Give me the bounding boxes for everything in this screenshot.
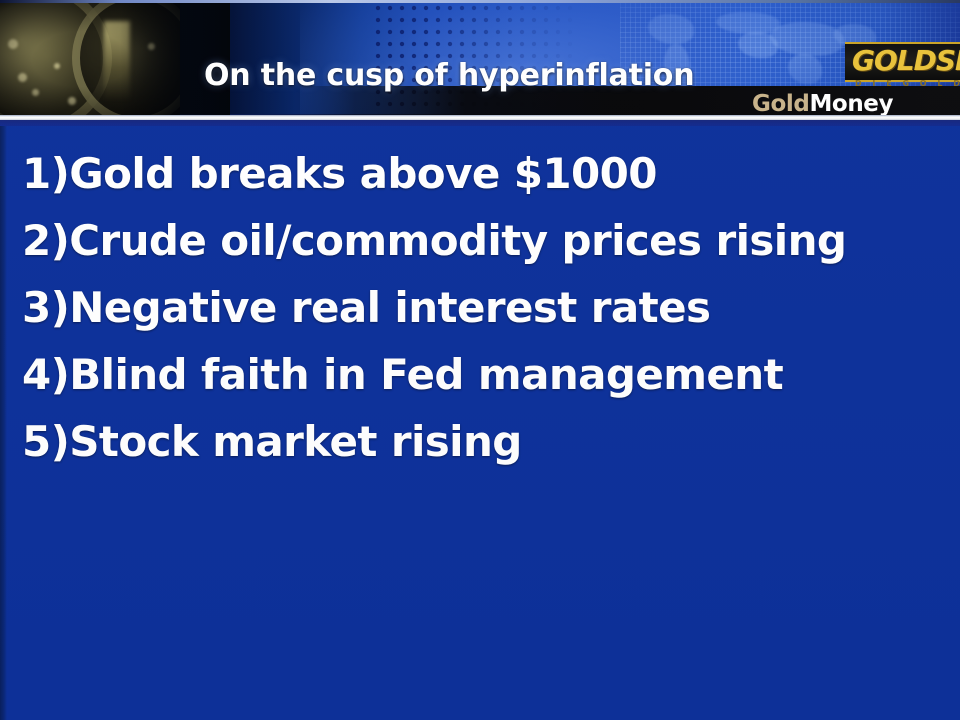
- list-item-label: Blind faith in Fed management: [69, 350, 783, 399]
- header-top-rule: [0, 0, 960, 3]
- goldmoney-brand-money: Money: [809, 91, 893, 117]
- list-item-number: 3): [22, 283, 69, 332]
- list-item-label: Gold breaks above $1000: [69, 149, 657, 198]
- list-item: 1)Gold breaks above $1000: [22, 140, 952, 207]
- body-left-edge-shade: [0, 126, 7, 720]
- list-item: 3)Negative real interest rates: [22, 274, 952, 341]
- list-item-number: 2): [22, 216, 69, 265]
- logo-wordmark: GOLDSEI: [852, 46, 960, 76]
- header-separator-blue: [0, 120, 960, 126]
- list-item-label: Crude oil/commodity prices rising: [69, 216, 846, 265]
- goldmoney-brand-gold: Gold: [752, 91, 809, 117]
- list-item-number: 5): [22, 417, 69, 466]
- list-item-label: Stock market rising: [69, 417, 522, 466]
- goldmoney-brand[interactable]: GoldMoney: [752, 90, 893, 118]
- slide-header-banner: On the cusp of hyperinflation GOLDSEI D …: [0, 0, 960, 122]
- slide-body: 1)Gold breaks above $1000 2)Crude oil/co…: [0, 126, 960, 720]
- logo-plate: GOLDSEI: [845, 42, 960, 82]
- list-item-number: 1): [22, 149, 69, 198]
- list-item-label: Negative real interest rates: [69, 283, 710, 332]
- list-item: 4)Blind faith in Fed management: [22, 341, 952, 408]
- presentation-slide: On the cusp of hyperinflation GOLDSEI D …: [0, 0, 960, 720]
- page-title: On the cusp of hyperinflation: [204, 56, 694, 96]
- list-item-number: 4): [22, 350, 69, 399]
- numbered-list: 1)Gold breaks above $1000 2)Crude oil/co…: [22, 140, 952, 475]
- list-item: 5)Stock market rising: [22, 408, 952, 475]
- logo-subtitle: D I E G O L D: [855, 79, 960, 88]
- list-item: 2)Crude oil/commodity prices rising: [22, 207, 952, 274]
